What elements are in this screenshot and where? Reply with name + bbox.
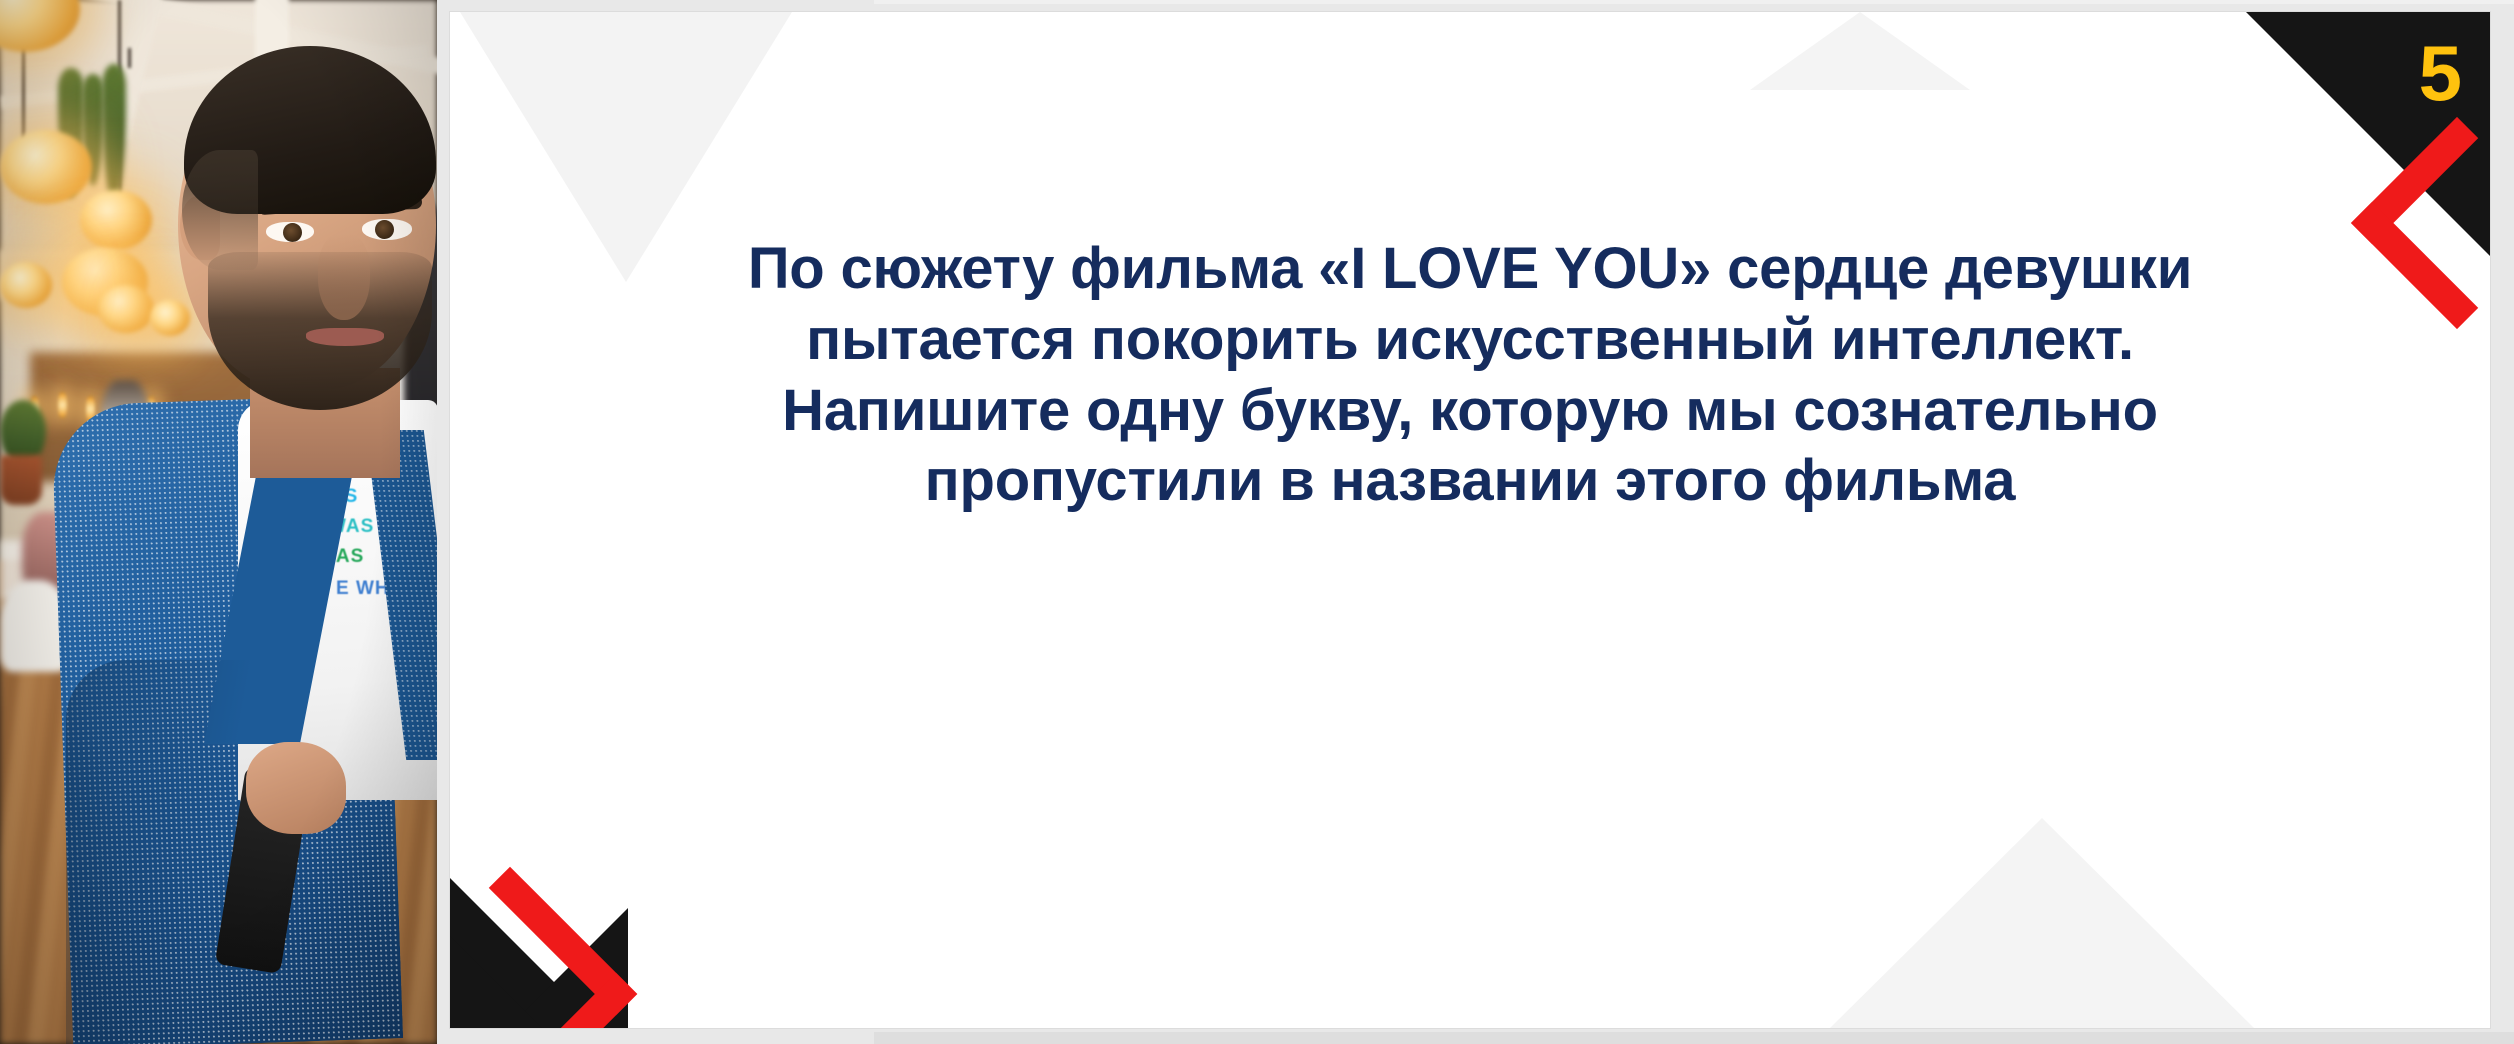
slide-text-line-1: По сюжету фильма «I LOVE YOU» сердце дев… (580, 234, 2360, 305)
slide-stage: 5 По сюжету фильма «I LOVE YOU» сердце д… (437, 0, 2514, 1044)
slide-text-line-2: пытается покорить искусственный интеллек… (580, 305, 2360, 376)
video-vignette (0, 0, 437, 1044)
stage-edge-bottom (874, 1032, 2514, 1044)
stage-edge-top (874, 0, 2514, 4)
presentation-slide[interactable]: 5 По сюжету фильма «I LOVE YOU» сердце д… (450, 12, 2490, 1028)
watermark-triangle-bottomright (1830, 818, 2254, 1028)
slide-text-line-4: пропустили в названии этого фильма (580, 446, 2360, 517)
watermark-triangle-topcenter (1750, 12, 1970, 90)
screen-root: EAST SIDE STUDIO WAS WAS WAS E WH (0, 0, 2514, 1044)
slide-number-badge: 5 (2419, 34, 2462, 112)
participant-video-tile[interactable]: EAST SIDE STUDIO WAS WAS WAS E WH (0, 0, 437, 1044)
slide-text-line-3: Напишите одну букву, которую мы сознател… (580, 376, 2360, 447)
slide-body-text: По сюжету фильма «I LOVE YOU» сердце дев… (580, 234, 2360, 517)
